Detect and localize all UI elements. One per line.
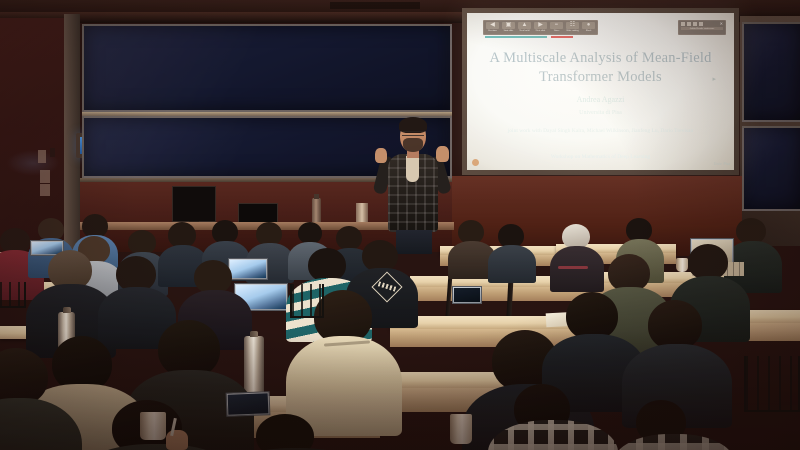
slide-decorative-dot — [472, 159, 479, 166]
start-slide-icon: ▣ — [502, 22, 515, 29]
bottle-cap — [250, 331, 258, 337]
panel-dot — [693, 22, 697, 26]
head — [566, 292, 618, 340]
board-sheen — [84, 26, 450, 110]
posted-paper-note — [38, 150, 46, 163]
wall-switch[interactable] — [50, 148, 55, 157]
toolbar-item-notes[interactable]: ≡ Notes — [550, 22, 563, 32]
laptop[interactable] — [228, 258, 268, 280]
toolbar-item-previous[interactable]: ◀ Previous — [486, 22, 499, 32]
speaker-legs — [396, 230, 432, 254]
laptop-screen — [454, 288, 480, 302]
lectern-monitor — [172, 186, 216, 222]
wire-basket — [744, 356, 800, 412]
hand-holding-pen — [166, 430, 188, 450]
head — [336, 226, 362, 250]
toolbar-progress-teal — [485, 36, 547, 38]
slide-author: Andrea Agazzi — [467, 95, 734, 104]
paper-cup — [676, 258, 688, 272]
slide-title-line2: Transformer Models — [539, 69, 662, 85]
panel-dot — [699, 22, 703, 26]
chalkboard-upper-right — [742, 22, 800, 122]
slide-coauthors: joint work with Dayal Singh Kalra, Micha… — [467, 127, 734, 136]
paper-cup — [140, 412, 166, 440]
lanyard — [558, 266, 588, 269]
toolbar-item-next-build[interactable]: ▲ Next build — [518, 22, 531, 32]
slide-affiliation: Universita di Pisa — [467, 110, 734, 116]
water-bottle — [244, 336, 264, 398]
next-build-icon: ▲ — [518, 22, 531, 29]
lecture-hall-photo: ◀ Previous ▣ Start slide ▲ Next build ▶ … — [0, 0, 800, 450]
previous-icon: ◀ — [486, 22, 499, 29]
head — [194, 260, 232, 294]
water-bottle — [312, 198, 321, 224]
speaker-inner-shirt — [406, 156, 419, 182]
panel-label: Adobe Reader conference — [681, 27, 723, 30]
slide-catalog-icon: ☷ — [566, 22, 579, 29]
toolbar-item-start-slide[interactable]: ▣ Start slide — [502, 22, 515, 32]
speaker-glasses — [402, 131, 424, 136]
toolbar-progress-red — [551, 36, 573, 38]
laptop-screen — [230, 260, 266, 278]
toolbar-item-slide-catalog[interactable]: ☷ Slide catalog — [566, 22, 579, 32]
speaker-hand-right — [436, 146, 449, 162]
body — [614, 434, 734, 450]
slide-corner-logo: Univ. Pisa — [714, 161, 730, 166]
close-icon[interactable]: ✕ — [720, 21, 723, 26]
laptop[interactable] — [226, 391, 271, 417]
ceiling-vent — [330, 2, 420, 9]
posted-paper-note — [40, 170, 50, 183]
chalkboard-lower-right — [742, 126, 800, 211]
wire-basket — [290, 284, 324, 318]
paper-cup — [356, 203, 368, 223]
head — [688, 244, 728, 280]
chalkboard-upper-left — [82, 24, 452, 112]
slide-venue: Workshop on Mathematics of Deep Learning — [467, 154, 734, 160]
paper-cup — [450, 414, 472, 444]
speaker-beard — [403, 138, 423, 152]
slide-cursor-arrow-icon: ▸ — [712, 75, 716, 83]
panel-dot — [681, 22, 685, 26]
projection-screen: ◀ Previous ▣ Start slide ▲ Next build ▶ … — [462, 8, 739, 175]
presenter-status-panel[interactable]: Adobe Reader conference ✕ — [678, 20, 726, 35]
board-sheen — [744, 24, 800, 120]
wire-basket — [0, 282, 26, 308]
speaker-hand-left — [375, 148, 387, 163]
speaker — [372, 112, 464, 252]
slide-title: A Multiscale Analysis of Mean-Field Tran… — [467, 49, 734, 87]
laptop[interactable] — [452, 286, 482, 304]
panel-dot — [687, 22, 691, 26]
board-sheen — [744, 128, 800, 209]
next-slide-icon: ▶ — [534, 22, 547, 29]
body — [488, 245, 536, 283]
head — [256, 414, 314, 450]
laptop-screen — [228, 393, 269, 414]
posted-paper-note — [40, 184, 50, 196]
toolbar-item-next-slide[interactable]: ▶ Next slide — [534, 22, 547, 32]
slide-title-line1: A Multiscale Analysis of Mean-Field — [489, 50, 711, 66]
head — [298, 222, 322, 244]
toolbar-item-black[interactable]: ● Black — [582, 22, 595, 32]
head — [308, 248, 346, 282]
presenter-toolbar[interactable]: ◀ Previous ▣ Start slide ▲ Next build ▶ … — [483, 20, 598, 35]
black-screen-icon: ● — [582, 22, 595, 29]
body — [550, 246, 604, 292]
notes-icon: ≡ — [550, 22, 563, 29]
projected-slide: ◀ Previous ▣ Start slide ▲ Next build ▶ … — [467, 13, 734, 170]
bottle-cap — [63, 307, 71, 313]
head — [648, 300, 702, 350]
